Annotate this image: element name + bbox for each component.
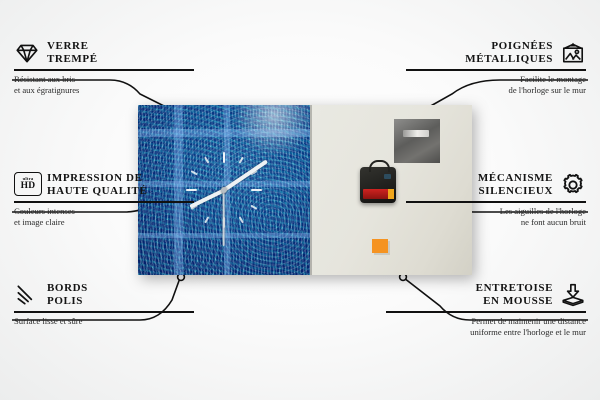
panel-seam [310, 105, 312, 275]
callout-verre-trempe: VERRE TREMPÉ Résistant aux bris et aux é… [14, 40, 194, 96]
foam-spacer [372, 239, 388, 253]
second-hand [223, 190, 225, 246]
callout-title: MÉCANISME SILENCIEUX [478, 172, 553, 197]
callout-bords-polis: BORDS POLIS Surface lisse et sûre [14, 282, 194, 327]
hd-label: HD [21, 182, 36, 192]
gear-icon [560, 172, 586, 198]
callout-title: POIGNÉES MÉTALLIQUES [465, 40, 553, 65]
divider [14, 311, 194, 313]
callout-title: ENTRETOISE EN MOUSSE [476, 282, 553, 307]
metal-hanger-plate [394, 119, 440, 163]
hanger-slot [403, 130, 429, 137]
diamond-icon [14, 40, 40, 66]
divider [14, 201, 194, 203]
hands-center-cap [221, 187, 227, 193]
foam-spacer-icon [560, 282, 586, 308]
movement-detail [384, 174, 391, 179]
callout-title: IMPRESSION DE HAUTE QUALITÉ [47, 172, 147, 197]
callout-title: BORDS POLIS [47, 282, 88, 307]
divider [406, 201, 586, 203]
callout-title: VERRE TREMPÉ [47, 40, 98, 65]
polished-edges-icon [14, 282, 40, 308]
callout-impression-haute-qualite: ultra HD IMPRESSION DE HAUTE QUALITÉ Cou… [14, 172, 194, 228]
callout-subtitle: Facilite le montage de l'horloge sur le … [406, 74, 586, 96]
callout-entretoise-en-mousse: ENTRETOISE EN MOUSSE Permet de maintenir… [386, 282, 586, 338]
highlight-glow [233, 105, 310, 156]
callout-subtitle: Les aiguilles de l'horloge ne font aucun… [406, 206, 586, 228]
callout-poignees-metalliques: POIGNÉES MÉTALLIQUES Facilite le montage… [406, 40, 586, 96]
quartz-movement [360, 167, 396, 203]
ultra-hd-icon: ultra HD [14, 172, 40, 198]
divider [14, 69, 194, 71]
battery [363, 189, 393, 199]
hanging-frame-icon [560, 40, 586, 66]
callout-subtitle: Permet de maintenir une distance uniform… [386, 316, 586, 338]
divider [406, 69, 586, 71]
callout-subtitle: Surface lisse et sûre [14, 316, 194, 327]
callout-mecanisme-silencieux: MÉCANISME SILENCIEUX Les aiguilles de l'… [406, 172, 586, 228]
callout-subtitle: Résistant aux bris et aux égratignures [14, 74, 194, 96]
infographic-canvas: VERRE TREMPÉ Résistant aux bris et aux é… [0, 0, 600, 400]
divider [386, 311, 586, 313]
hanger-loop [369, 160, 390, 172]
callout-subtitle: Couleurs intenses et image claire [14, 206, 194, 228]
